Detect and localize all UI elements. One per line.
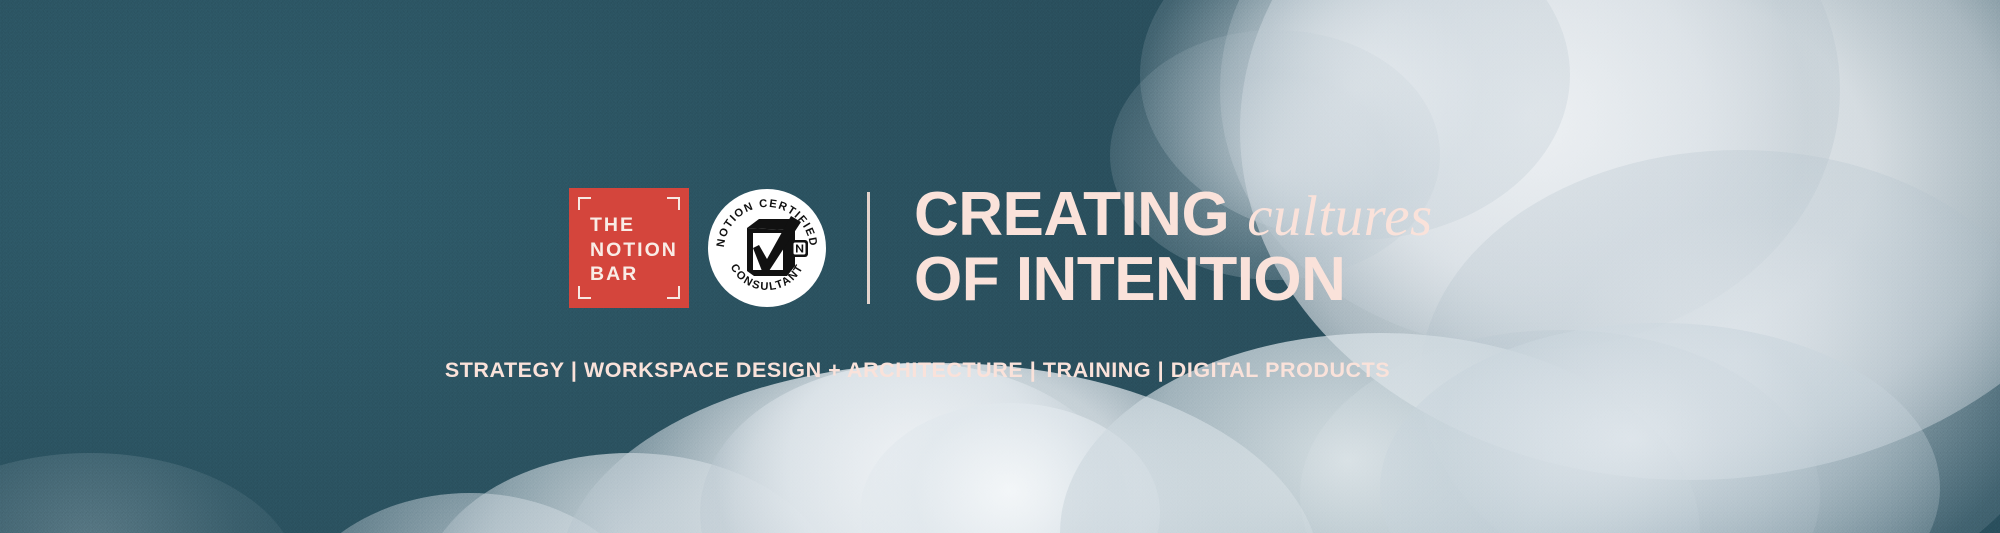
headline-of-intention: OF INTENTION	[914, 250, 1345, 311]
badge-notion-n-chip	[791, 240, 808, 257]
headline-line-1: CREATING cultures	[914, 185, 1433, 246]
vertical-divider	[867, 192, 870, 304]
hero-banner: THE NOTION BAR	[0, 0, 2000, 533]
logo-frame-notch-top	[591, 193, 667, 203]
notion-certified-consultant-badge: NOTION CERTIFIED CONSULTANT	[707, 188, 827, 308]
logo-word-the: THE	[590, 213, 674, 238]
services-tagline-text: STRATEGY | WORKSPACE DESIGN + ARCHITECTU…	[445, 358, 1390, 383]
brand-lockup: THE NOTION BAR	[569, 185, 1433, 311]
notion-bar-logo: THE NOTION BAR	[569, 188, 689, 308]
headline-creating: CREATING	[914, 185, 1229, 246]
banner-content: THE NOTION BAR	[0, 0, 2000, 533]
headline-line-2: OF INTENTION	[914, 250, 1433, 311]
logo-frame-notch-left	[574, 210, 584, 286]
headline-block: CREATING cultures OF INTENTION	[914, 185, 1433, 311]
logo-word-bar: BAR	[590, 262, 674, 287]
headline-cultures: cultures	[1247, 188, 1433, 245]
logo-frame-notch-bottom	[591, 293, 667, 303]
services-tagline: STRATEGY | WORKSPACE DESIGN + ARCHITECTU…	[0, 358, 2000, 383]
logo-wordmark: THE NOTION BAR	[590, 213, 674, 287]
logo-word-notion: NOTION	[590, 238, 674, 263]
